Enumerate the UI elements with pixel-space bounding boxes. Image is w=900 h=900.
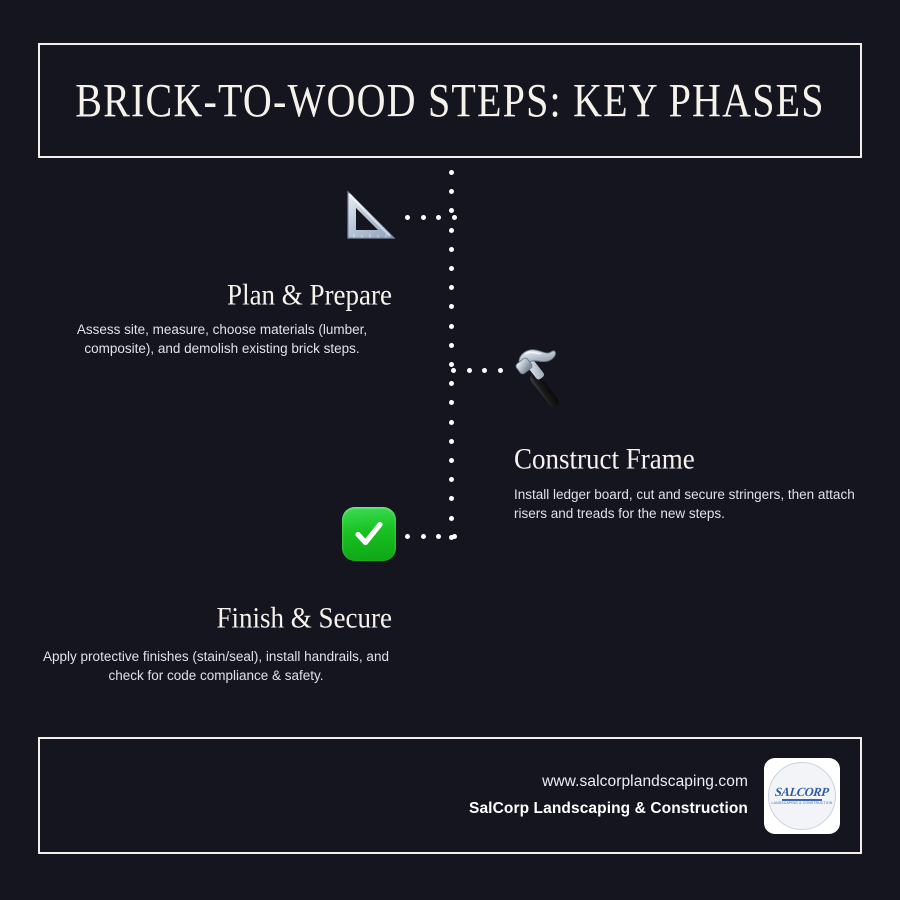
footer-box: www.salcorplandscaping.com SalCorp Lands… (38, 737, 862, 854)
phase-1-heading: Plan & Prepare (0, 279, 392, 313)
spine-dot (449, 362, 454, 367)
spine-dot (449, 208, 454, 213)
triangular-ruler-icon (340, 186, 400, 246)
logo-tagline: LANDSCAPING & CONSTRUCTION (772, 802, 833, 805)
spine-dot (449, 228, 454, 233)
footer-text-group: www.salcorplandscaping.com SalCorp Lands… (469, 773, 748, 818)
connector-dot (421, 534, 426, 539)
spine-dot (449, 477, 454, 482)
company-logo: SALCORP LANDSCAPING & CONSTRUCTION (764, 758, 840, 834)
connector-dot (498, 368, 503, 373)
check-mark-button-icon (342, 507, 396, 561)
infographic-poster: BRICK-TO-WOOD STEPS: KEY PHASES (0, 0, 900, 900)
logo-circle: SALCORP LANDSCAPING & CONSTRUCTION (768, 762, 836, 830)
spine-dot (449, 439, 454, 444)
timeline-spine (449, 170, 455, 544)
spine-dot (449, 496, 454, 501)
connector-dot (436, 215, 441, 220)
phase-3-body: Apply protective finishes (stain/seal), … (40, 647, 392, 685)
connector-dot (421, 215, 426, 220)
spine-dot (449, 420, 454, 425)
spine-dot (449, 189, 454, 194)
company-name: SalCorp Landscaping & Construction (469, 800, 748, 818)
phase-3-heading: Finish & Secure (0, 602, 392, 636)
connector-dot (467, 368, 472, 373)
connector-dot (452, 534, 457, 539)
connector-dot (405, 534, 410, 539)
spine-dot (449, 458, 454, 463)
connector-dot (405, 215, 410, 220)
spine-dot (449, 324, 454, 329)
spine-dot (449, 247, 454, 252)
hammer-icon (505, 340, 577, 412)
spine-dot (449, 400, 454, 405)
phase-2-body: Install ledger board, cut and secure str… (514, 485, 866, 523)
phase-1-body: Assess site, measure, choose materials (… (52, 320, 392, 358)
connector-dot (436, 534, 441, 539)
connector-dot (452, 215, 457, 220)
logo-wordmark: SALCORP (775, 786, 830, 799)
spine-dot (449, 170, 454, 175)
website-url[interactable]: www.salcorplandscaping.com (469, 773, 748, 791)
spine-dot (449, 266, 454, 271)
page-title: BRICK-TO-WOOD STEPS: KEY PHASES (75, 75, 825, 127)
title-box: BRICK-TO-WOOD STEPS: KEY PHASES (38, 43, 862, 158)
connector-dots-phase-1 (405, 215, 455, 221)
connector-dot (482, 368, 487, 373)
connector-dots-phase-2 (451, 368, 507, 374)
phase-2-heading: Construct Frame (514, 443, 894, 477)
spine-dot (449, 343, 454, 348)
spine-dot (449, 285, 454, 290)
spine-dot (449, 516, 454, 521)
spine-dot (449, 304, 454, 309)
connector-dot (451, 368, 456, 373)
connector-dots-phase-3 (405, 534, 455, 540)
spine-dot (449, 381, 454, 386)
